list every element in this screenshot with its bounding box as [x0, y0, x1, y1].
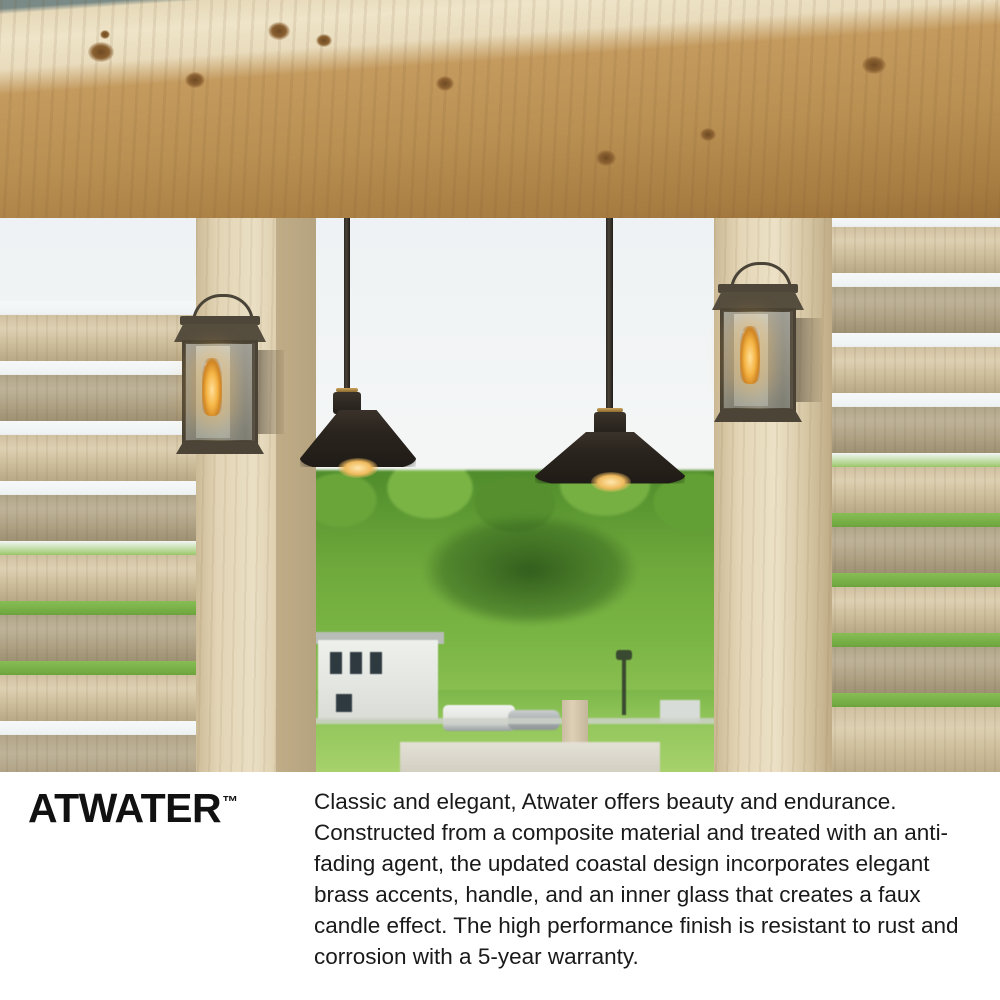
- louver-slat: [0, 555, 200, 601]
- product-description: Classic and elegant, Atwater offers beau…: [314, 786, 964, 972]
- product-photo: [0, 0, 1000, 772]
- wood-knot: [100, 30, 110, 39]
- lantern-base-plate: [714, 410, 802, 422]
- louver-slat: [828, 407, 1000, 453]
- wall-lantern-left: [174, 294, 294, 464]
- louver-slat: [828, 647, 1000, 693]
- pendant-bulb-glow: [591, 472, 631, 492]
- lantern-faux-candle-flame: [740, 326, 760, 384]
- louver-gap: [0, 721, 200, 735]
- wood-knot: [185, 72, 205, 88]
- louver-slat: [828, 527, 1000, 573]
- barn-pendant-left: [300, 212, 440, 482]
- louver-wall-left: [0, 205, 200, 772]
- pendant-rod: [606, 214, 613, 410]
- house-window: [330, 652, 342, 674]
- louver-slat: [828, 587, 1000, 633]
- louver-slat: [828, 227, 1000, 273]
- louver-gap: [0, 601, 200, 615]
- louver-gap: [828, 273, 1000, 287]
- brand-name: ATWATER: [28, 785, 221, 831]
- louver-gap: [828, 393, 1000, 407]
- wall-lantern-right: [712, 262, 832, 432]
- louver-gap: [828, 633, 1000, 647]
- house-window: [370, 652, 382, 674]
- wood-knot: [700, 128, 716, 141]
- louver-gap: [828, 453, 1000, 467]
- louver-gap: [0, 481, 200, 495]
- yard-lamp-post: [622, 655, 626, 715]
- louver-slat: [0, 375, 200, 421]
- brand-title: ATWATER™: [28, 788, 238, 829]
- louver-slat: [828, 347, 1000, 393]
- description-panel: ATWATER™ Classic and elegant, Atwater of…: [0, 772, 1000, 1000]
- louver-gap: [828, 513, 1000, 527]
- wood-knot: [88, 42, 114, 62]
- louver-slat: [0, 675, 200, 721]
- house-window: [336, 694, 352, 712]
- lantern-cap: [718, 284, 798, 293]
- louver-slat: [828, 707, 1000, 772]
- house-window: [350, 652, 362, 674]
- lantern-wall-arm: [796, 318, 822, 402]
- tree-shadow-mass: [380, 495, 680, 645]
- lantern-base-plate: [176, 442, 264, 454]
- louver-gap: [828, 573, 1000, 587]
- barn-pendant-right: [535, 214, 685, 494]
- pendant-bulb-glow: [338, 458, 378, 478]
- louver-slat: [0, 615, 200, 661]
- wood-knot: [316, 34, 332, 47]
- louver-slat: [828, 287, 1000, 333]
- louver-slat: [0, 435, 200, 481]
- concrete-base: [400, 742, 660, 772]
- louver-gap: [0, 301, 200, 315]
- louver-gap: [828, 693, 1000, 707]
- louver-slat: [0, 495, 200, 541]
- wood-knot: [596, 150, 616, 166]
- lantern-wall-arm: [258, 350, 284, 434]
- timber-header-beam: [0, 0, 1000, 218]
- louver-slat: [828, 467, 1000, 513]
- louver-slat: [0, 315, 200, 361]
- lantern-faux-candle-flame: [202, 358, 222, 416]
- wood-knot: [268, 22, 290, 40]
- louver-wall-right: [828, 205, 1000, 772]
- louver-gap: [0, 421, 200, 435]
- louver-gap: [0, 541, 200, 555]
- trademark-icon: ™: [222, 794, 238, 811]
- wood-knot: [862, 56, 886, 74]
- pendant-rod: [344, 212, 350, 390]
- wood-knot: [436, 76, 454, 91]
- lantern-cap: [180, 316, 260, 325]
- louver-gap: [0, 361, 200, 375]
- louver-slat: [0, 735, 200, 772]
- louver-gap: [828, 333, 1000, 347]
- product-banner: ATWATER™ Classic and elegant, Atwater of…: [0, 0, 1000, 1000]
- louver-gap: [0, 661, 200, 675]
